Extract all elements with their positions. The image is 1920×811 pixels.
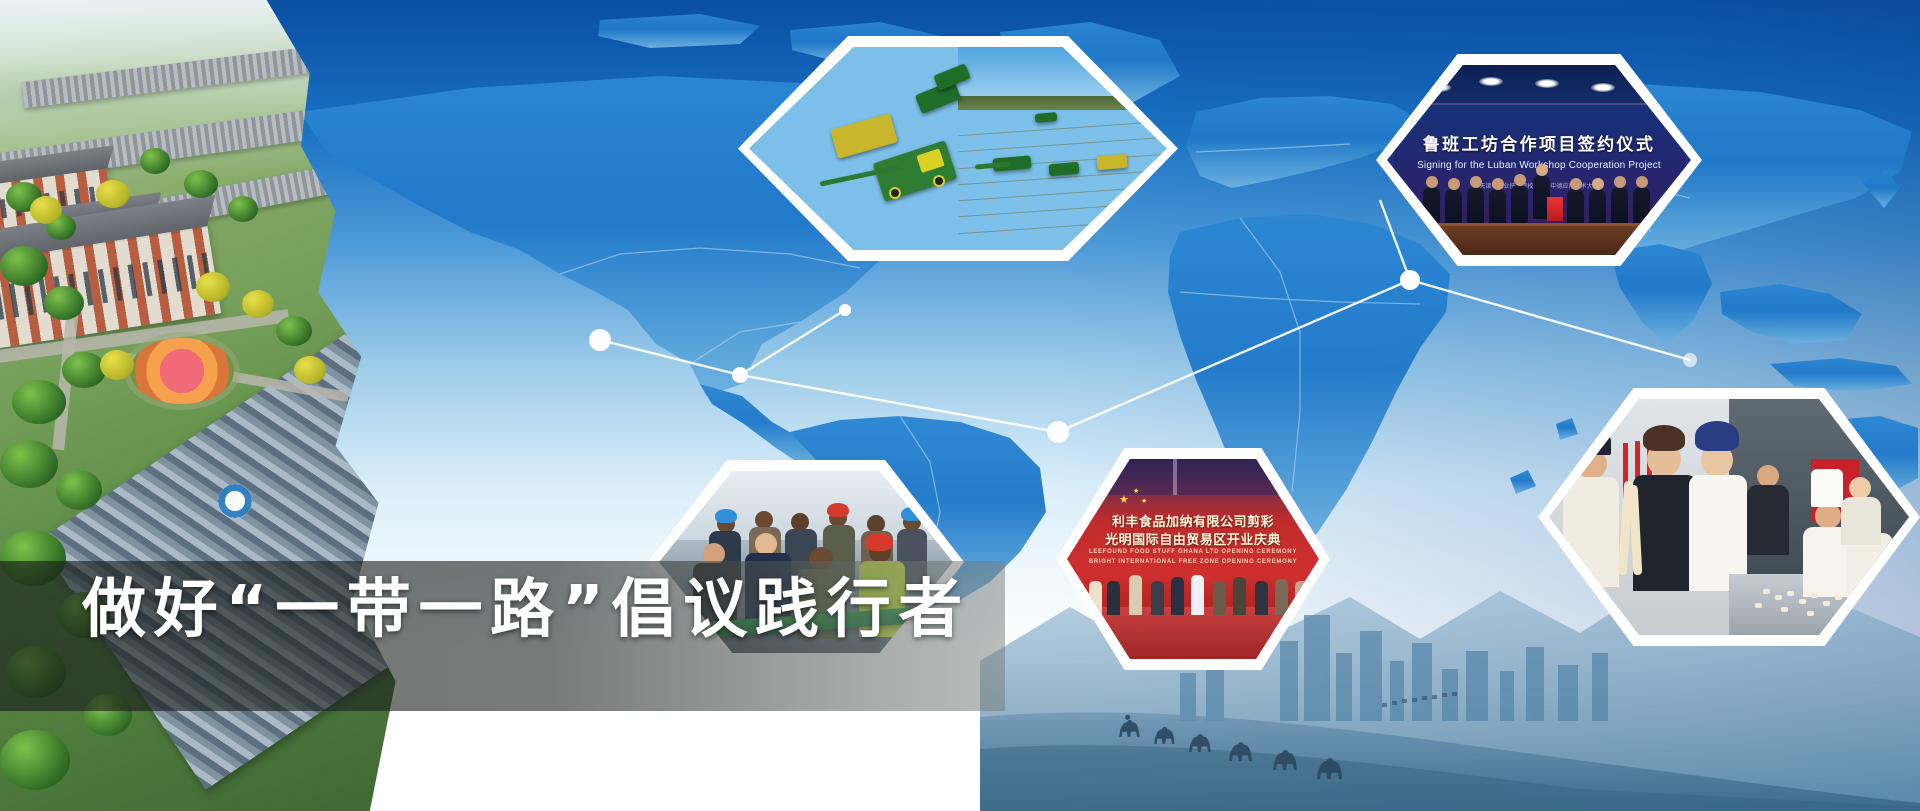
leefound-banner-line-1: 利丰食品加纳有限公司剪彩 — [1067, 511, 1319, 530]
leefound-banner-english-1: LEEFOUND FOOD STUFF GHANA LTD OPENING CE… — [1067, 549, 1319, 555]
leefound-opening-ceremony-image: ★ ★ ★ 利丰食品加纳有限公司剪彩 光明国际自由贸易区开业庆典 LEEFOUN… — [1067, 459, 1319, 659]
culinary-training-image — [1549, 399, 1909, 635]
page-title: 做好“一带一路”倡议践行者 — [82, 578, 970, 642]
luban-banner-chinese: 鲁班工坊合作项目签约仪式 — [1387, 130, 1691, 155]
leefound-banner-english-2: BRIGHT INTERNATIONAL FREE ZONE OPENING C… — [1067, 559, 1319, 565]
leefound-banner-line-2: 光明国际自由贸易区开业庆典 — [1067, 529, 1319, 548]
harvest-field-image — [749, 47, 1167, 250]
belt-and-road-banner: 鲁班工坊合作项目签约仪式 Signing for the Luban Works… — [0, 0, 1920, 811]
luban-signing-ceremony-image: 鲁班工坊合作项目签约仪式 Signing for the Luban Works… — [1387, 65, 1691, 255]
